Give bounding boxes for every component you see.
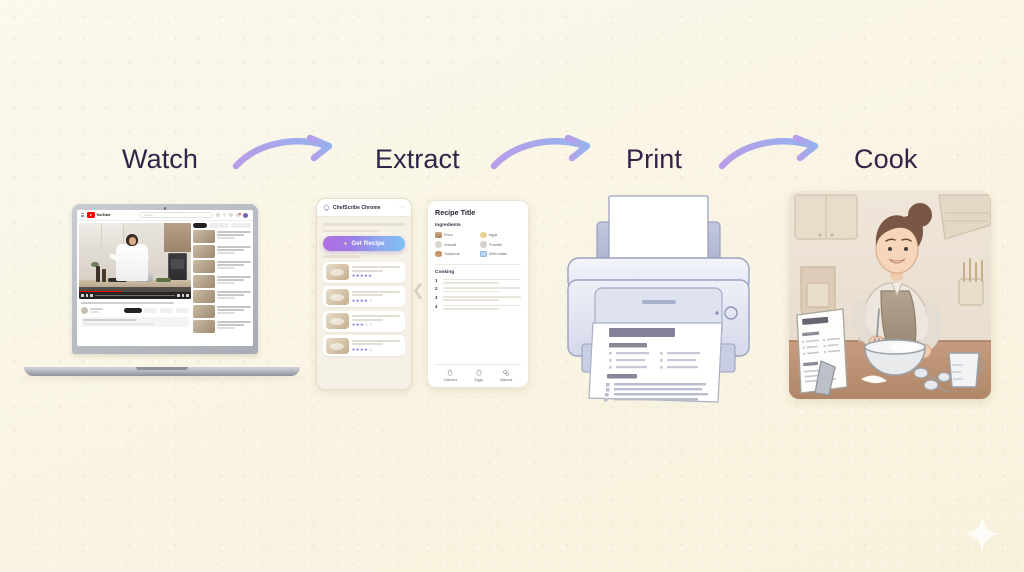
recipe-title: Recipe Title <box>435 208 521 217</box>
next-icon[interactable] <box>86 294 89 297</box>
recipe-thumbnail <box>326 338 349 354</box>
macros-icon <box>502 369 510 377</box>
channel-avatar[interactable] <box>81 307 88 314</box>
skeleton-line <box>323 223 405 226</box>
list-item[interactable] <box>193 230 251 243</box>
recipe-stats-footer: Calories Eggs Macros <box>435 364 521 383</box>
more-options-icon[interactable]: ⋯ <box>399 206 405 210</box>
chip-recipes[interactable] <box>209 223 229 228</box>
recipe-card: Recipe Title Ingredients Flour eggs Sneo… <box>427 200 529 388</box>
list-item[interactable]: ★★★★★ <box>323 335 405 356</box>
eggs-icon <box>480 232 487 239</box>
microphone-icon[interactable] <box>223 213 226 217</box>
chip-cooking[interactable] <box>231 223 251 228</box>
recipe-thumbnail <box>326 289 349 305</box>
chef-hat-icon <box>323 204 330 211</box>
list-item[interactable] <box>193 275 251 288</box>
get-recipe-button[interactable]: Get Recipe <box>323 236 405 251</box>
search-icon[interactable] <box>216 213 219 217</box>
list-item[interactable]: ★★★★★ <box>323 311 405 332</box>
printed-recipe-page <box>589 323 722 402</box>
stat-macros[interactable]: Macros <box>500 369 512 383</box>
list-item[interactable] <box>193 305 251 318</box>
settings-icon[interactable] <box>177 294 180 297</box>
rating-stars: ★★★★★ <box>352 347 403 352</box>
ingredient-item: Sneoat <box>435 241 476 248</box>
laptop-base <box>24 367 300 376</box>
batter <box>890 342 920 352</box>
printout-ingredients-band <box>609 343 647 348</box>
list-item[interactable] <box>193 260 251 273</box>
notifications-icon[interactable] <box>236 213 240 217</box>
youtube-wordmark: YouTube <box>96 213 110 217</box>
video-player[interactable] <box>79 223 191 299</box>
stat-eggs[interactable]: Eggs <box>475 369 483 383</box>
recipe-card-stand <box>797 309 847 395</box>
powder-jar-icon <box>480 241 487 248</box>
step-label-print: Print <box>626 142 682 176</box>
cooking-steps: 1 2 3 4 <box>435 279 521 364</box>
save-button[interactable] <box>176 308 189 313</box>
youtube-play-icon <box>87 212 95 218</box>
list-item[interactable] <box>193 320 251 333</box>
video-metadata <box>79 299 191 327</box>
stat-calories[interactable]: Calories <box>444 369 458 383</box>
step-label-cook: Cook <box>854 142 917 176</box>
laptop-lid: YouTube Search <box>72 204 258 354</box>
laptop-screen: YouTube Search <box>77 210 253 346</box>
video-description[interactable] <box>81 317 189 327</box>
rating-stars: ★★★★★ <box>352 322 403 327</box>
fullscreen-icon[interactable] <box>186 294 189 297</box>
ingredients-heading: Ingredients <box>435 223 521 228</box>
flow-diagram: Watch Extract Print Cook YouTu <box>0 0 1024 572</box>
subscribe-button[interactable] <box>124 308 142 313</box>
step-label-extract: Extract <box>375 142 460 176</box>
like-button[interactable] <box>144 308 157 313</box>
panel-connector-icon: ❮ <box>412 280 423 302</box>
youtube-header: YouTube Search <box>77 210 253 221</box>
flour-bag-icon <box>435 232 442 239</box>
rating-stars: ★★★★★ <box>352 273 403 278</box>
ingredients-list: Flour eggs Sneoat Powder Toeplous With w… <box>435 232 521 258</box>
volume-icon[interactable] <box>90 294 93 297</box>
recipe-thumbnail <box>326 264 349 280</box>
step-label-watch: Watch <box>122 142 198 176</box>
blank-paper-sheet <box>609 196 708 266</box>
sparkle-icon <box>343 241 348 246</box>
chefscribe-extension-panel: ChefScribe Chrome ⋯ Get Recipe ★★★★★ <box>316 198 412 390</box>
printer-vent <box>642 300 676 304</box>
cooking-heading: Cooking <box>435 270 521 275</box>
recipe-results-list: ★★★★★ ★★★★★ ★★★★★ <box>323 262 405 383</box>
extension-title: ChefScribe Chrome <box>333 205 381 211</box>
list-item[interactable]: ★★★★★ <box>323 286 405 307</box>
flame-icon <box>446 369 454 377</box>
list-item[interactable] <box>193 245 251 258</box>
play-icon[interactable] <box>81 294 84 297</box>
printout-title-band <box>609 328 675 337</box>
printout-cooking-band <box>607 374 637 379</box>
egg-icon <box>475 369 483 377</box>
skeleton-line <box>323 230 380 233</box>
cooking-step: 2 <box>435 287 521 292</box>
ingredient-item: Powder <box>480 241 521 248</box>
list-item[interactable]: ★★★★★ <box>323 262 405 283</box>
filter-chips[interactable] <box>193 223 251 228</box>
measuring-cup <box>949 353 979 387</box>
ingredient-item: Flour <box>435 232 476 239</box>
recipe-thumbnail <box>326 313 349 329</box>
cooking-step: 1 <box>435 279 521 284</box>
chip-all[interactable] <box>193 223 207 228</box>
hair-bun <box>908 203 932 227</box>
search-input[interactable]: Search <box>139 212 213 218</box>
menu-icon[interactable] <box>81 213 84 217</box>
power-led-icon <box>715 311 719 315</box>
ingredient-item: eggs <box>480 232 521 239</box>
ingredient-item: Toeplous <box>435 251 476 258</box>
printer-illustration <box>556 194 761 406</box>
create-icon[interactable] <box>229 213 233 217</box>
rolling-pin-icon <box>435 251 442 258</box>
avatar[interactable] <box>243 213 248 218</box>
ingredient-item: With water <box>480 251 521 258</box>
bowl-icon <box>435 241 442 248</box>
apron <box>881 291 916 343</box>
share-button[interactable] <box>160 308 173 313</box>
cooking-step: 3 <box>435 296 521 301</box>
cook-illustration <box>789 191 991 399</box>
recommendations-sidebar <box>193 223 251 344</box>
sparkle-watermark <box>962 514 1002 554</box>
laptop-watch-step: YouTube Search <box>24 204 300 382</box>
utensil-jar <box>959 279 983 305</box>
get-recipe-label: Get Recipe <box>351 240 384 247</box>
youtube-logo[interactable]: YouTube <box>87 212 110 218</box>
extension-header: ChefScribe Chrome ⋯ <box>317 199 411 217</box>
theater-icon[interactable] <box>182 294 185 297</box>
list-item[interactable] <box>193 290 251 303</box>
arrow-print-to-cook <box>718 128 828 176</box>
search-placeholder: Search <box>144 214 152 217</box>
skeleton-line <box>323 255 360 258</box>
cooking-step: 4 <box>435 305 521 310</box>
arrow-extract-to-print <box>490 128 600 176</box>
arrow-watch-to-extract <box>232 128 342 176</box>
rating-stars: ★★★★★ <box>352 298 403 303</box>
video-controls[interactable] <box>79 292 191 299</box>
canister <box>807 283 829 307</box>
water-glass-icon <box>480 251 487 258</box>
